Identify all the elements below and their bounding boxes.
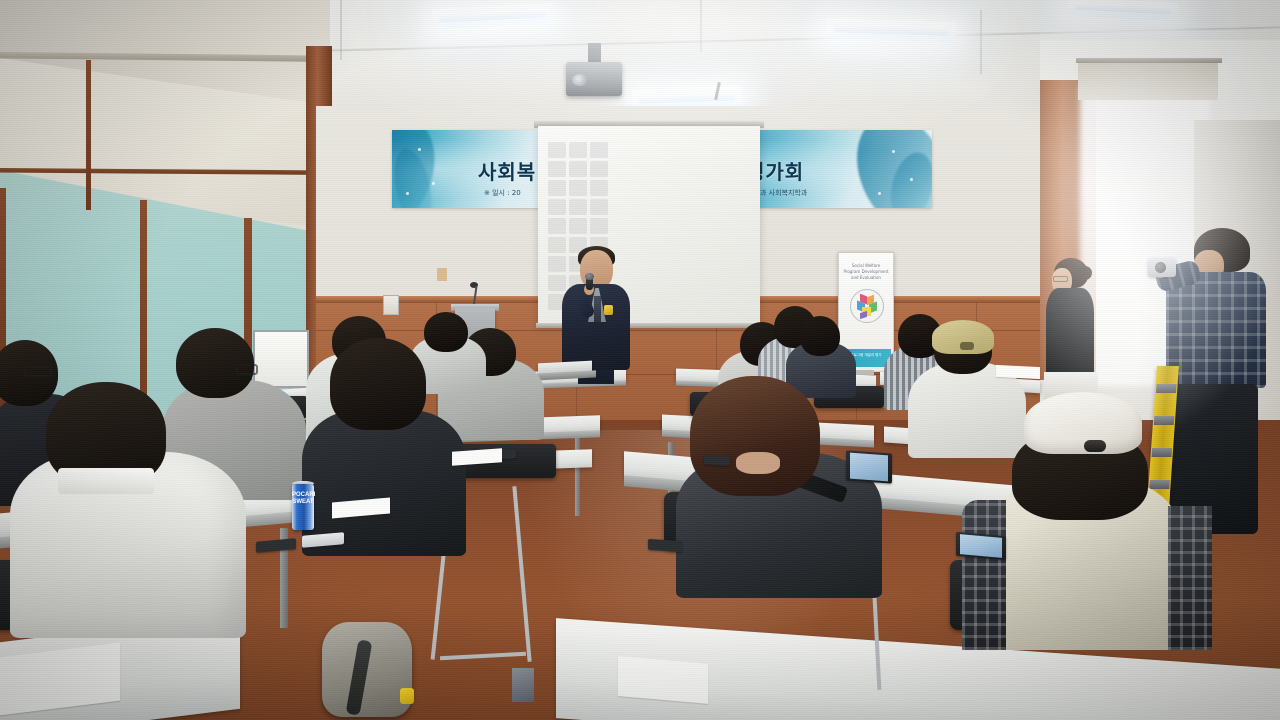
drink-can-icon: POCARI SWEAT	[292, 484, 314, 530]
cap-adjuster-icon	[1084, 440, 1106, 452]
presenter-tie	[594, 296, 601, 322]
list-item	[330, 338, 426, 430]
photographer-body	[1166, 272, 1266, 388]
tablet-icon	[956, 532, 1006, 560]
standing-woman-glasses-icon	[1053, 276, 1068, 282]
rollup-line-3: and Evaluation	[843, 275, 889, 281]
standing-woman-bun	[1078, 266, 1092, 280]
plaid-sleeve-left	[962, 500, 1006, 650]
backpack-tag-icon	[400, 688, 414, 704]
list-item	[690, 376, 820, 496]
projector-lens-icon	[572, 74, 588, 86]
plaid-sleeve-right	[1168, 506, 1212, 650]
blind-rod[interactable]	[1076, 58, 1222, 63]
list-item	[176, 328, 254, 398]
white-cap	[1024, 392, 1142, 454]
ceiling-light-icon	[1068, 0, 1179, 21]
window-blind[interactable]	[1078, 60, 1218, 100]
list-item	[800, 316, 840, 356]
panel-divider	[86, 60, 91, 210]
shirt-collar	[58, 468, 154, 494]
smartphone-icon	[648, 539, 682, 552]
ceiling-light-icon	[432, 3, 553, 29]
color-cube-logo-icon	[850, 289, 884, 323]
camera-lens-icon	[1155, 262, 1166, 273]
event-banner-right: 평가회 과 사회복지학과	[742, 130, 932, 208]
microphone-head-icon	[585, 273, 594, 280]
smartphone-icon	[704, 455, 730, 465]
list-item	[424, 312, 468, 352]
rollup-banner-text: Social Welfare Program Development and E…	[843, 263, 889, 281]
paper-sheet	[618, 656, 708, 704]
wall-outlet-icon	[383, 295, 399, 315]
glasses-icon	[24, 366, 52, 377]
wall-switch-plate-icon	[437, 268, 447, 281]
glasses-icon	[236, 364, 258, 375]
tablet-icon	[846, 450, 892, 483]
banner-left-subtitle: ※ 일시 : 20	[484, 188, 521, 198]
cap-strap-icon	[960, 342, 974, 350]
banner-left-title: 사회복	[478, 156, 536, 185]
paper-sheet	[996, 365, 1040, 379]
drink-can-label: POCARI SWEAT	[292, 492, 314, 506]
classroom-photo-scene: 사회복 ※ 일시 : 20 평가회 과 사회복지학과 Social Welfar…	[0, 0, 1280, 720]
presenter-badge	[604, 305, 613, 315]
board-poster	[512, 668, 534, 702]
banner-right-subtitle: 과 사회복지학과	[760, 188, 807, 198]
side-whiteboard	[253, 330, 309, 388]
neck-skin	[736, 452, 780, 474]
standing-woman-body	[1046, 288, 1094, 380]
